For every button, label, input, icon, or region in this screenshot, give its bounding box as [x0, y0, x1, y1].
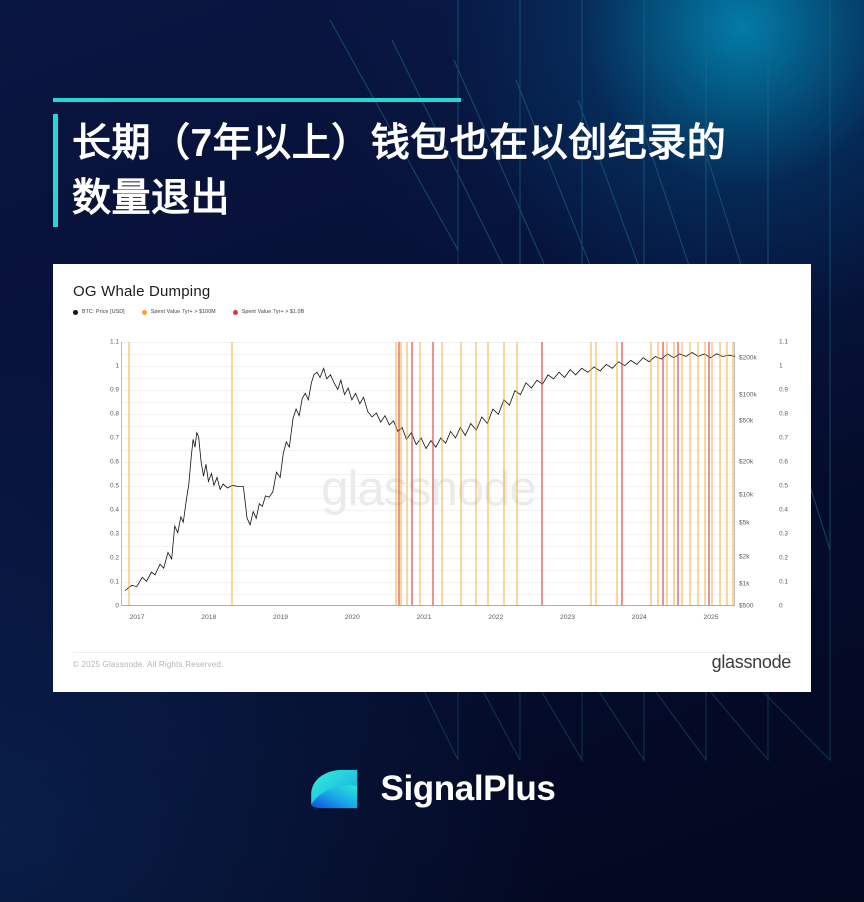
x-axis-tick: 2021: [416, 614, 431, 621]
y-axis-left-tick: 0.6: [110, 459, 119, 466]
spent-value-100m-marker: [231, 342, 233, 605]
legend-item-spent-1b[interactable]: Spent Value 7yr+ > $1.0B: [233, 309, 305, 315]
y-axis-left-tick: 0.7: [110, 435, 119, 442]
y-axis-right-secondary-tick: 1: [779, 363, 783, 370]
spent-value-100m-marker: [673, 342, 675, 605]
spent-value-1b-marker: [662, 342, 664, 605]
card-divider: [73, 652, 791, 653]
y-axis-right-secondary-tick: 0.1: [779, 579, 788, 586]
y-axis-left-tick: 0.3: [110, 531, 119, 538]
headline-block: 长期（7年以上）钱包也在以创纪录的 数量退出: [53, 98, 813, 227]
legend-item-btc-price[interactable]: BTC: Price [USD]: [73, 309, 125, 315]
spent-value-100m-marker: [487, 342, 489, 605]
spent-value-100m-marker: [616, 342, 618, 605]
x-axis-tick: 2018: [201, 614, 216, 621]
spent-value-100m-marker: [657, 342, 659, 605]
legend-item-spent-100m[interactable]: Spent Value 7yr+ > $100M: [142, 309, 216, 315]
spent-value-100m-marker: [719, 342, 721, 605]
legend-label: Spent Value 7yr+ > $1.0B: [242, 309, 305, 315]
y-axis-left-tick: 0.9: [110, 387, 119, 394]
x-axis-tick: 2025: [703, 614, 718, 621]
spent-value-100m-marker: [400, 342, 402, 605]
legend-dot-icon: [73, 310, 78, 315]
y-axis-right-secondary-tick: 0: [779, 603, 783, 610]
y-axis-right-price-tick: $1k: [739, 580, 749, 587]
y-axis-right-price-tick: $2k: [739, 554, 749, 561]
y-axis-right-secondary-tick: 0.7: [779, 435, 788, 442]
signalplus-logo-icon: [309, 766, 367, 812]
chart-title: OG Whale Dumping: [73, 283, 210, 300]
chart-plot-area: 00.10.20.30.40.50.60.70.80.911.1 glassno…: [53, 342, 811, 632]
x-axis: 201720182019202020212022202320242025: [121, 608, 735, 628]
legend-dot-icon: [233, 310, 238, 315]
y-axis-left-tick: 0.1: [110, 579, 119, 586]
x-axis-tick: 2017: [129, 614, 144, 621]
y-axis-right-price-tick: $20k: [739, 459, 753, 466]
spent-value-100m-marker: [726, 342, 728, 605]
signalplus-wordmark: SignalPlus: [381, 769, 556, 809]
y-axis-left-tick: 1.1: [110, 339, 119, 346]
spent-value-100m-marker: [732, 342, 734, 605]
y-axis-right-secondary-tick: 0.3: [779, 531, 788, 538]
legend-label: BTC: Price [USD]: [82, 309, 125, 315]
btc-price-path: [125, 353, 735, 591]
spent-value-100m-marker: [503, 342, 505, 605]
headline-accent-bar: [53, 114, 58, 227]
headline-line-1: 长期（7年以上）钱包也在以创纪录的: [72, 116, 726, 171]
spent-value-100m-marker: [441, 342, 443, 605]
y-axis-right-secondary: 00.10.20.30.40.50.60.70.80.911.1: [779, 342, 805, 606]
glassnode-logo: glassnode: [712, 652, 791, 673]
y-axis-left-tick: 0.4: [110, 507, 119, 514]
spent-value-1b-marker: [541, 342, 543, 605]
spent-value-100m-marker: [666, 342, 668, 605]
y-axis-right-price: $500$1k$2k$5k$10k$20k$50k$100k$200k: [739, 342, 775, 606]
spent-value-100m-marker: [704, 342, 706, 605]
x-axis-tick: 2022: [488, 614, 503, 621]
y-axis-right-secondary-tick: 1.1: [779, 339, 788, 346]
x-axis-tick: 2024: [632, 614, 647, 621]
x-axis-tick: 2023: [560, 614, 575, 621]
spent-value-1b-marker: [398, 342, 400, 605]
spent-value-100m-marker: [650, 342, 652, 605]
spent-value-1b-marker: [708, 342, 710, 605]
spent-value-100m-marker: [595, 342, 597, 605]
spent-value-1b-marker: [432, 342, 434, 605]
y-axis-right-price-tick: $5k: [739, 519, 749, 526]
y-axis-right-price-tick: $200k: [739, 354, 757, 361]
headline-line-2: 数量退出: [72, 171, 726, 226]
spent-value-100m-marker: [681, 342, 683, 605]
spent-value-100m-marker: [590, 342, 592, 605]
copyright-text: © 2025 Glassnode. All Rights Reserved.: [73, 660, 223, 669]
chart-card: OG Whale Dumping BTC: Price [USD] Spent …: [53, 264, 811, 692]
y-axis-left-tick: 0.8: [110, 411, 119, 418]
y-axis-right-secondary-tick: 0.5: [779, 483, 788, 490]
y-axis-right-secondary-tick: 0.4: [779, 507, 788, 514]
y-axis-left-tick: 0: [115, 603, 119, 610]
spent-value-1b-marker: [621, 342, 623, 605]
y-axis-left-tick: 0.2: [110, 555, 119, 562]
y-axis-left-tick: 1: [115, 363, 119, 370]
spent-value-1b-marker: [677, 342, 679, 605]
x-axis-tick: 2020: [345, 614, 360, 621]
btc-price-line: [122, 342, 735, 605]
y-axis-right-secondary-tick: 0.2: [779, 555, 788, 562]
spent-value-100m-marker: [460, 342, 462, 605]
y-axis-right-price-tick: $100k: [739, 391, 757, 398]
plot-canvas: glassnode: [121, 342, 735, 606]
signalplus-branding: SignalPlus: [0, 766, 864, 812]
spent-value-100m-marker: [697, 342, 699, 605]
spent-value-100m-marker: [516, 342, 518, 605]
spent-value-100m-marker: [475, 342, 477, 605]
y-axis-right-secondary-tick: 0.8: [779, 411, 788, 418]
y-axis-left-tick: 0.5: [110, 483, 119, 490]
legend-dot-icon: [142, 310, 147, 315]
y-axis-left: 00.10.20.30.40.50.60.70.80.911.1: [81, 342, 119, 606]
y-axis-right-price-tick: $500: [739, 603, 753, 610]
spent-value-100m-marker: [689, 342, 691, 605]
chart-legend: BTC: Price [USD] Spent Value 7yr+ > $100…: [73, 309, 304, 315]
page-title: 长期（7年以上）钱包也在以创纪录的 数量退出: [72, 114, 726, 227]
y-axis-right-secondary-tick: 0.6: [779, 459, 788, 466]
spent-value-100m-marker: [128, 342, 130, 605]
x-axis-tick: 2019: [273, 614, 288, 621]
spent-value-100m-marker: [395, 342, 397, 605]
spent-value-1b-marker: [411, 342, 413, 605]
y-axis-right-secondary-tick: 0.9: [779, 387, 788, 394]
spent-value-100m-marker: [406, 342, 408, 605]
y-axis-right-price-tick: $50k: [739, 418, 753, 425]
spent-value-100m-marker: [419, 342, 421, 605]
legend-label: Spent Value 7yr+ > $100M: [151, 309, 216, 315]
spent-value-100m-marker: [711, 342, 713, 605]
y-axis-right-price-tick: $10k: [739, 492, 753, 499]
headline-top-rule: [53, 98, 461, 102]
